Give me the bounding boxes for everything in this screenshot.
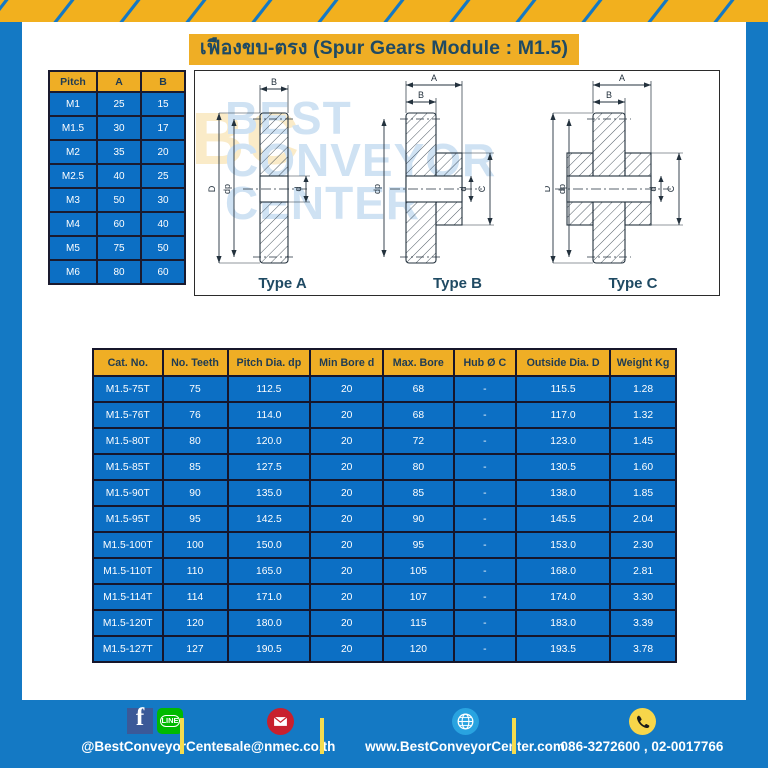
svg-text:B: B: [271, 77, 277, 87]
main-data-cell: 123.0: [517, 429, 609, 453]
pitch-header-pitch: Pitch: [50, 72, 96, 91]
main-data-cell: 130.5: [517, 455, 609, 479]
pitch-cell: 75: [98, 237, 140, 259]
pitch-table-row: M23520: [50, 141, 184, 163]
pitch-cell: 20: [142, 141, 184, 163]
main-data-cell: 95: [164, 507, 227, 531]
main-data-cell: 145.5: [517, 507, 609, 531]
main-data-cell: 190.5: [229, 637, 310, 661]
pitch-table: Pitch A B M12515M1.53017M23520M2.54025M3…: [48, 70, 186, 285]
main-header-cell: Max. Bore: [384, 350, 452, 375]
footer-separator-1: [180, 718, 184, 754]
main-data-cell: 183.0: [517, 611, 609, 635]
envelope-glyph: [273, 716, 288, 727]
main-data-cell: 1.28: [611, 377, 675, 401]
pitch-table-row: M35030: [50, 189, 184, 211]
main-data-cell: 90: [164, 481, 227, 505]
main-table-header-row: Cat. No.No. TeethPitch Dia. dpMin Bore d…: [94, 350, 675, 375]
main-data-cell: 3.39: [611, 611, 675, 635]
table-row: M1.5-114T114171.020107-174.03.30: [94, 585, 675, 609]
svg-text:d: d: [293, 186, 303, 191]
main-data-cell: 142.5: [229, 507, 310, 531]
main-header-cell: No. Teeth: [164, 350, 227, 375]
main-data-cell: 127.5: [229, 455, 310, 479]
type-a-label: Type A: [195, 275, 370, 292]
main-data-cell: 2.81: [611, 559, 675, 583]
svg-text:A: A: [619, 73, 625, 83]
pitch-table-row: M12515: [50, 93, 184, 115]
pitch-cell: 60: [142, 261, 184, 283]
svg-text:d: d: [458, 186, 468, 191]
email-icon[interactable]: [267, 708, 294, 735]
svg-text:B: B: [606, 90, 612, 100]
main-data-cell: M1.5-75T: [94, 377, 162, 401]
footer-phone-label: 086-3272600 , 02-0017766: [522, 739, 762, 754]
pitch-cell: 30: [98, 117, 140, 139]
main-data-cell: 3.30: [611, 585, 675, 609]
phone-icon-wrap[interactable]: [522, 706, 762, 736]
main-data-cell: 20: [311, 559, 382, 583]
table-row: M1.5-75T75112.52068-115.51.28: [94, 377, 675, 401]
table-row: M1.5-80T80120.02072-123.01.45: [94, 429, 675, 453]
main-data-cell: 3.78: [611, 637, 675, 661]
svg-text:D: D: [545, 185, 552, 192]
main-header-cell: Min Bore d: [311, 350, 382, 375]
table-row: M1.5-110T110165.020105-168.02.81: [94, 559, 675, 583]
main-data-cell: M1.5-80T: [94, 429, 162, 453]
table-row: M1.5-90T90135.02085-138.01.85: [94, 481, 675, 505]
main-header-cell: Pitch Dia. dp: [229, 350, 310, 375]
main-data-cell: 95: [384, 533, 452, 557]
main-header-cell: Weight Kg: [611, 350, 675, 375]
main-data-cell: 2.04: [611, 507, 675, 531]
pitch-cell: M3: [50, 189, 96, 211]
main-data-cell: -: [455, 403, 515, 427]
main-data-cell: M1.5-110T: [94, 559, 162, 583]
spur-gear-spec-table: Cat. No.No. TeethPitch Dia. dpMin Bore d…: [92, 348, 677, 663]
main-data-cell: M1.5-127T: [94, 637, 162, 661]
svg-text:B: B: [418, 90, 424, 100]
pitch-cell: 30: [142, 189, 184, 211]
gear-drawing-b: A B dp d: [370, 71, 545, 296]
main-data-cell: 20: [311, 455, 382, 479]
pitch-table-row: M1.53017: [50, 117, 184, 139]
main-data-cell: 20: [311, 429, 382, 453]
globe-glyph: [457, 713, 474, 730]
main-data-cell: 85: [164, 455, 227, 479]
pitch-cell: M4: [50, 213, 96, 235]
gear-drawing-a: B D dp: [195, 71, 370, 296]
main-data-cell: M1.5-90T: [94, 481, 162, 505]
main-data-cell: 114: [164, 585, 227, 609]
upper-region: Pitch A B M12515M1.53017M23520M2.54025M3…: [48, 70, 720, 296]
footer-separator-3: [512, 718, 516, 754]
main-data-cell: 117.0: [517, 403, 609, 427]
pitch-header-b: B: [142, 72, 184, 91]
main-data-cell: 1.32: [611, 403, 675, 427]
main-data-cell: 85: [384, 481, 452, 505]
main-data-cell: M1.5-95T: [94, 507, 162, 531]
pitch-cell: 17: [142, 117, 184, 139]
pitch-cell: 15: [142, 93, 184, 115]
main-data-cell: 100: [164, 533, 227, 557]
main-data-cell: 138.0: [517, 481, 609, 505]
footer-separator-2: [320, 718, 324, 754]
main-data-cell: 105: [384, 559, 452, 583]
top-chevron-band: [0, 0, 768, 22]
main-data-cell: 174.0: [517, 585, 609, 609]
pitch-cell: 80: [98, 261, 140, 283]
pitch-cell: M2: [50, 141, 96, 163]
main-data-cell: -: [455, 377, 515, 401]
pitch-table-row: M68060: [50, 261, 184, 283]
main-data-cell: 115: [384, 611, 452, 635]
table-row: M1.5-85T85127.52080-130.51.60: [94, 455, 675, 479]
main-data-cell: 150.0: [229, 533, 310, 557]
pitch-cell: 40: [98, 165, 140, 187]
main-data-cell: 114.0: [229, 403, 310, 427]
main-data-cell: 110: [164, 559, 227, 583]
main-data-cell: 20: [311, 611, 382, 635]
main-data-cell: 20: [311, 585, 382, 609]
main-data-cell: 115.5: [517, 377, 609, 401]
main-data-cell: 120: [164, 611, 227, 635]
pitch-cell: M2.5: [50, 165, 96, 187]
pitch-cell: 60: [98, 213, 140, 235]
pitch-cell: M1: [50, 93, 96, 115]
pitch-cell: 25: [142, 165, 184, 187]
phone-icon[interactable]: [629, 708, 656, 735]
phone-glyph: [635, 714, 650, 729]
main-data-cell: 68: [384, 377, 452, 401]
main-data-cell: -: [455, 481, 515, 505]
svg-text:d: d: [648, 186, 658, 191]
svg-text:D: D: [207, 185, 217, 192]
table-row: M1.5-76T76114.02068-117.01.32: [94, 403, 675, 427]
main-data-cell: M1.5-100T: [94, 533, 162, 557]
diagram-type-a: B D dp: [195, 71, 370, 296]
main-data-cell: -: [455, 611, 515, 635]
main-data-cell: 80: [164, 429, 227, 453]
main-data-cell: 153.0: [517, 533, 609, 557]
main-data-cell: -: [455, 559, 515, 583]
main-header-cell: Cat. No.: [94, 350, 162, 375]
main-data-cell: -: [455, 637, 515, 661]
main-data-cell: -: [455, 585, 515, 609]
svg-text:dp: dp: [557, 184, 567, 194]
pitch-cell: M5: [50, 237, 96, 259]
main-data-cell: 1.60: [611, 455, 675, 479]
main-data-cell: 90: [384, 507, 452, 531]
globe-icon[interactable]: [452, 708, 479, 735]
pitch-cell: M1.5: [50, 117, 96, 139]
svg-text:C: C: [666, 185, 676, 192]
main-data-cell: 20: [311, 637, 382, 661]
facebook-icon[interactable]: [127, 708, 153, 734]
main-data-cell: 171.0: [229, 585, 310, 609]
main-data-cell: 20: [311, 403, 382, 427]
main-data-cell: M1.5-85T: [94, 455, 162, 479]
footer-item-phone[interactable]: 086-3272600 , 02-0017766: [522, 706, 762, 754]
svg-text:dp: dp: [222, 184, 232, 194]
main-data-cell: 68: [384, 403, 452, 427]
content-sheet: เฟืองขบ-ตรง (Spur Gears Module : M1.5) P…: [22, 22, 746, 700]
main-data-cell: 120.0: [229, 429, 310, 453]
gear-drawing-c: A B D: [545, 71, 720, 296]
pitch-table-row: M2.54025: [50, 165, 184, 187]
main-data-cell: 127: [164, 637, 227, 661]
main-data-cell: 76: [164, 403, 227, 427]
main-data-cell: 20: [311, 481, 382, 505]
main-data-cell: 20: [311, 533, 382, 557]
pitch-cell: 25: [98, 93, 140, 115]
table-row: M1.5-100T100150.02095-153.02.30: [94, 533, 675, 557]
svg-text:C: C: [477, 185, 487, 192]
table-row: M1.5-95T95142.52090-145.52.04: [94, 507, 675, 531]
main-data-cell: 20: [311, 507, 382, 531]
main-data-cell: 135.0: [229, 481, 310, 505]
main-data-cell: 165.0: [229, 559, 310, 583]
main-data-cell: 107: [384, 585, 452, 609]
main-data-cell: 193.5: [517, 637, 609, 661]
diagram-type-c: A B D: [545, 71, 720, 296]
main-data-cell: 80: [384, 455, 452, 479]
svg-text:dp: dp: [372, 184, 382, 194]
diagram-panel: BC BESTCONVEYORCENTER: [194, 70, 720, 296]
main-data-cell: -: [455, 507, 515, 531]
main-data-cell: 75: [164, 377, 227, 401]
main-header-cell: Outside Dia. D: [517, 350, 609, 375]
pitch-table-row: M57550: [50, 237, 184, 259]
main-data-cell: 2.30: [611, 533, 675, 557]
main-data-cell: M1.5-76T: [94, 403, 162, 427]
pitch-header-a: A: [98, 72, 140, 91]
pitch-cell: 50: [98, 189, 140, 211]
pitch-cell: 40: [142, 213, 184, 235]
main-data-cell: 20: [311, 377, 382, 401]
main-data-cell: 72: [384, 429, 452, 453]
main-data-cell: 112.5: [229, 377, 310, 401]
pitch-table-row: M46040: [50, 213, 184, 235]
pitch-cell: 35: [98, 141, 140, 163]
main-data-cell: 120: [384, 637, 452, 661]
type-b-label: Type B: [370, 275, 545, 292]
main-data-cell: M1.5-114T: [94, 585, 162, 609]
main-data-cell: -: [455, 429, 515, 453]
main-data-cell: 1.45: [611, 429, 675, 453]
main-data-cell: M1.5-120T: [94, 611, 162, 635]
page-title: เฟืองขบ-ตรง (Spur Gears Module : M1.5): [189, 34, 579, 65]
footer-bar: @BestConveyorCenter sale@nmec.co.th: [0, 700, 768, 768]
main-data-cell: -: [455, 455, 515, 479]
svg-text:A: A: [431, 73, 437, 83]
page-title-wrap: เฟืองขบ-ตรง (Spur Gears Module : M1.5): [22, 34, 746, 65]
main-table-wrap: Cat. No.No. TeethPitch Dia. dpMin Bore d…: [92, 348, 677, 663]
main-header-cell: Hub Ø C: [455, 350, 515, 375]
pitch-cell: 50: [142, 237, 184, 259]
pitch-cell: M6: [50, 261, 96, 283]
main-data-cell: 168.0: [517, 559, 609, 583]
table-row: M1.5-127T127190.520120-193.53.78: [94, 637, 675, 661]
table-row: M1.5-120T120180.020115-183.03.39: [94, 611, 675, 635]
main-data-cell: 180.0: [229, 611, 310, 635]
diagram-type-b: A B dp d: [370, 71, 545, 296]
type-c-label: Type C: [545, 275, 720, 292]
main-data-cell: 1.85: [611, 481, 675, 505]
pitch-table-header-row: Pitch A B: [50, 72, 184, 91]
main-data-cell: -: [455, 533, 515, 557]
